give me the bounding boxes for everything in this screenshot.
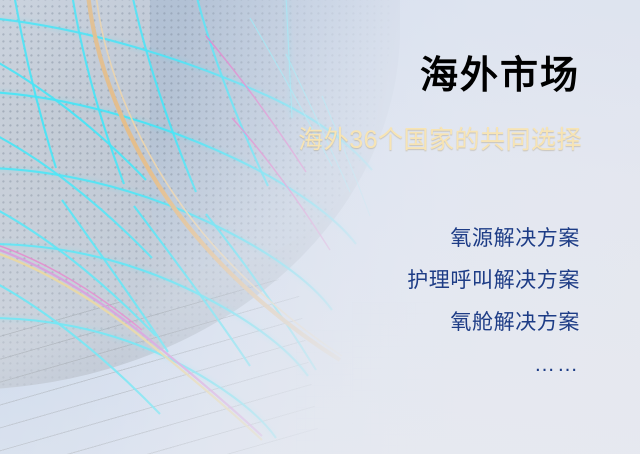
solution-list: 氧源解决方案 护理呼叫解决方案 氧舱解决方案 …… (407, 228, 580, 375)
text-content-layer: 海外市场 海外36个国家的共同选择 氧源解决方案 护理呼叫解决方案 氧舱解决方案… (0, 0, 640, 454)
page-title: 海外市场 (420, 57, 580, 95)
page-subtitle: 海外36个国家的共同选择 (298, 128, 582, 153)
list-item: 氧舱解决方案 (407, 312, 580, 333)
list-item: 护理呼叫解决方案 (407, 270, 580, 291)
list-item: 氧源解决方案 (407, 228, 580, 249)
list-ellipsis: …… (407, 354, 580, 375)
slide-canvas: 海外市场 海外36个国家的共同选择 氧源解决方案 护理呼叫解决方案 氧舱解决方案… (0, 0, 640, 454)
